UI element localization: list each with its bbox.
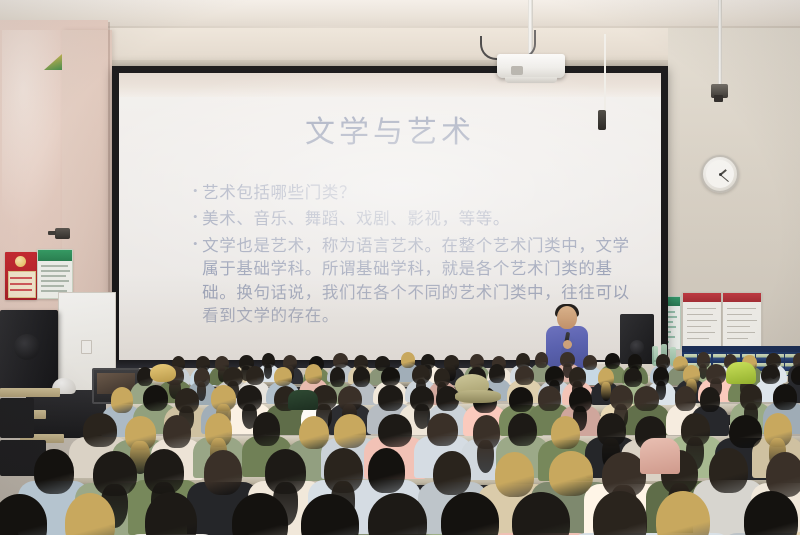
audience-member-head — [143, 385, 167, 411]
poster-text-line — [41, 275, 66, 277]
audience-member-head — [766, 452, 800, 497]
poster-text-line — [41, 280, 69, 282]
notice-text-line — [687, 320, 717, 321]
audience-member-head — [427, 413, 458, 447]
audience-member-head — [378, 414, 411, 448]
audience-member-head — [333, 353, 348, 368]
notice-text-line — [727, 332, 755, 333]
poster-text-line — [10, 277, 32, 279]
audience-member-head — [433, 451, 470, 496]
audience-dark-green-shirt — [288, 390, 318, 410]
clock-center-pin — [719, 173, 722, 176]
notice-text-line — [687, 338, 709, 339]
pull-cord-weight[interactable] — [598, 110, 606, 130]
slide-bullet: •艺术包括哪些门类？ — [193, 181, 635, 204]
audience-seating — [0, 352, 800, 535]
audience-member-head — [791, 366, 800, 385]
audience-member-head — [378, 385, 403, 411]
audience-member-head — [495, 452, 535, 497]
presenter-head — [557, 306, 577, 329]
bullet-marker-icon: • — [193, 234, 198, 254]
audience-member-head — [253, 412, 280, 446]
poster-text-line — [10, 289, 32, 291]
audience-member-head — [675, 386, 696, 412]
audience-member-head — [334, 414, 366, 448]
audience-member-head — [299, 416, 328, 450]
audience-hat-brim — [455, 390, 501, 403]
bullet-marker-icon: • — [193, 207, 198, 227]
notice-text-line — [727, 338, 748, 339]
notice-text-line — [687, 314, 713, 315]
slide-bullet-text: 艺术包括哪些门类？ — [202, 181, 635, 204]
presenter-hand — [563, 340, 572, 349]
slide-bullet: •美术、音乐、舞蹈、戏剧、影视，等等。 — [193, 207, 635, 230]
wall-camera-icon — [55, 228, 70, 239]
audience-member-head — [163, 415, 191, 449]
poster-red — [5, 252, 37, 300]
ceiling-camera-pole — [718, 0, 722, 88]
poster-text-line — [41, 270, 70, 272]
audience-member-head — [709, 448, 747, 493]
audience-member-head — [274, 367, 293, 386]
poster-green-header — [38, 250, 72, 261]
audience-member-head — [515, 366, 534, 385]
audience-member-head — [583, 355, 597, 370]
slide-bullet-text: 美术、音乐、舞蹈、戏剧、影视，等等。 — [202, 207, 635, 230]
audience-member-head — [509, 387, 533, 413]
audience-blonde-hair — [150, 364, 176, 382]
audience-member-head — [634, 386, 659, 412]
audience-member-head — [729, 415, 762, 449]
audience-member-head — [761, 365, 780, 384]
audience-member-head — [535, 352, 548, 367]
audience-member-head — [381, 367, 400, 386]
ceiling-camera-icon — [711, 84, 728, 98]
audience-member-head — [305, 364, 321, 383]
notice-text-line — [727, 308, 756, 309]
wall-clock — [701, 155, 739, 193]
audience-member-head — [330, 367, 346, 386]
audience-member-head — [246, 366, 264, 385]
notice-text-line — [687, 308, 716, 309]
audience-member-head — [83, 413, 117, 447]
audience-member-head — [508, 413, 537, 447]
audience-member-head — [700, 387, 721, 413]
audience-member-head — [624, 368, 642, 387]
screen-pull-cord[interactable] — [604, 34, 606, 112]
notice-text-line — [727, 314, 752, 315]
audience-member-head — [368, 448, 405, 493]
audience-member-head — [538, 386, 562, 412]
audience-member-head — [605, 353, 620, 368]
lecture-hall-photo: 文学与艺术 •艺术包括哪些门类？•美术、音乐、舞蹈、戏剧、影视，等等。•文学也是… — [0, 0, 800, 535]
notice-text-line — [727, 326, 750, 327]
notice-text-line — [727, 320, 757, 321]
audience-member-head — [489, 364, 505, 383]
audience-member-head — [551, 416, 580, 450]
notice-text-line — [687, 332, 715, 333]
audience-member-head — [773, 384, 797, 410]
audience-member-head — [401, 352, 415, 367]
notice-a-header — [683, 293, 721, 302]
audience-member-head — [34, 449, 73, 494]
bullet-marker-icon: • — [193, 181, 198, 201]
audience-member-head — [204, 450, 243, 495]
poster-text-line — [41, 285, 64, 287]
poster-red-emblem — [15, 256, 26, 267]
notice-board-a — [682, 292, 722, 350]
audience-member-head — [111, 387, 134, 413]
notice-board-b — [722, 292, 762, 350]
audience-green-jacket — [726, 362, 756, 384]
projector-lens-icon — [511, 66, 523, 75]
audience-member-head — [353, 367, 370, 386]
ceiling-projector — [497, 54, 565, 78]
poster-text-line — [41, 265, 68, 267]
poster-text-line — [10, 283, 32, 285]
notice-text-line — [687, 326, 711, 327]
slide-title: 文学与艺术 — [145, 107, 635, 151]
audience-member-head — [549, 451, 593, 496]
audience-pink-shirt — [640, 438, 680, 474]
notice-b-header — [723, 293, 761, 302]
clock-face — [706, 160, 734, 188]
